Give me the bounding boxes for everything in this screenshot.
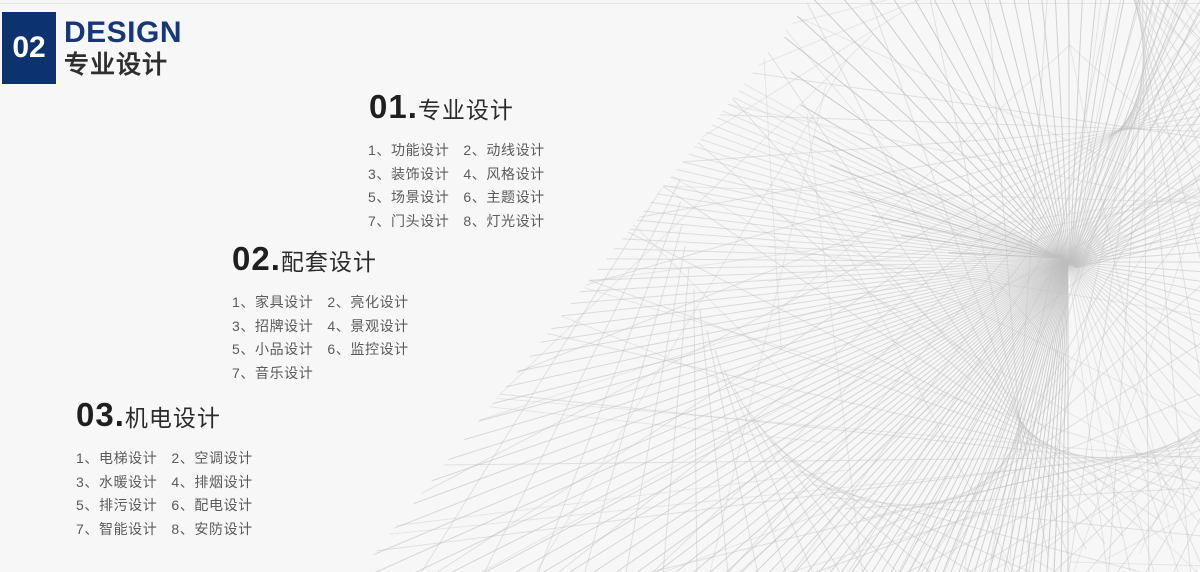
- list-item: 4、风格设计: [463, 163, 544, 187]
- section-02-title: 配套设计: [281, 249, 377, 275]
- section-03-title: 机电设计: [125, 405, 221, 431]
- list-item: 4、排烟设计: [171, 471, 252, 495]
- list-item: 3、装饰设计: [368, 163, 449, 187]
- list-item: 3、水暖设计: [76, 471, 157, 495]
- list-item: 7、智能设计: [76, 518, 157, 542]
- list-item: 2、亮化设计: [327, 291, 408, 315]
- section-01-number: 01.: [369, 88, 418, 125]
- list-item: 2、空调设计: [171, 447, 252, 471]
- list-item: 5、排污设计: [76, 494, 157, 518]
- list-item: 2、动线设计: [463, 139, 544, 163]
- content-section-03: 03.机电设计 1、电梯设计 2、空调设计 3、水暖设计 4、排烟设计 5、排污…: [76, 398, 253, 541]
- section-02-item-list: 1、家具设计 2、亮化设计 3、招牌设计 4、景观设计 5、小品设计 6、监控设…: [232, 291, 409, 385]
- slide-header: 02 DESIGN 专业设计: [2, 12, 182, 84]
- list-item: 4、景观设计: [327, 315, 408, 339]
- top-divider-rule: [0, 3, 1200, 4]
- list-item: 6、主题设计: [463, 186, 544, 210]
- content-section-01: 01.专业设计 1、功能设计 2、动线设计 3、装饰设计 4、风格设计 5、场景…: [369, 90, 545, 233]
- header-text-group: DESIGN 专业设计: [64, 12, 182, 84]
- section-02-heading: 02.配套设计: [232, 242, 409, 275]
- list-item: 1、功能设计: [368, 139, 449, 163]
- content-section-02: 02.配套设计 1、家具设计 2、亮化设计 3、招牌设计 4、景观设计 5、小品…: [232, 242, 409, 385]
- section-01-title: 专业设计: [418, 97, 514, 123]
- list-item: 3、招牌设计: [232, 315, 313, 339]
- section-03-item-list: 1、电梯设计 2、空调设计 3、水暖设计 4、排烟设计 5、排污设计 6、配电设…: [76, 447, 253, 541]
- header-title-cn: 专业设计: [64, 50, 182, 80]
- slide-root: 02 DESIGN 专业设计 01.专业设计 1、功能设计 2、动线设计 3、装…: [0, 0, 1200, 572]
- list-item: 7、音乐设计: [232, 362, 313, 386]
- section-03-number: 03.: [76, 396, 125, 433]
- section-03-heading: 03.机电设计: [76, 398, 253, 431]
- list-item: 6、监控设计: [327, 338, 408, 362]
- section-01-item-list: 1、功能设计 2、动线设计 3、装饰设计 4、风格设计 5、场景设计 6、主题设…: [368, 139, 545, 233]
- list-item: 1、电梯设计: [76, 447, 157, 471]
- list-item: 5、小品设计: [232, 338, 313, 362]
- list-item: 1、家具设计: [232, 291, 313, 315]
- list-item: 7、门头设计: [368, 210, 449, 234]
- section-number-badge: 02: [2, 12, 56, 84]
- section-02-number: 02.: [232, 240, 281, 277]
- header-title-en: DESIGN: [64, 18, 182, 48]
- section-01-heading: 01.专业设计: [369, 90, 545, 123]
- list-item: 8、灯光设计: [463, 210, 544, 234]
- list-item: 6、配电设计: [171, 494, 252, 518]
- list-item: 8、安防设计: [171, 518, 252, 542]
- list-item: 5、场景设计: [368, 186, 449, 210]
